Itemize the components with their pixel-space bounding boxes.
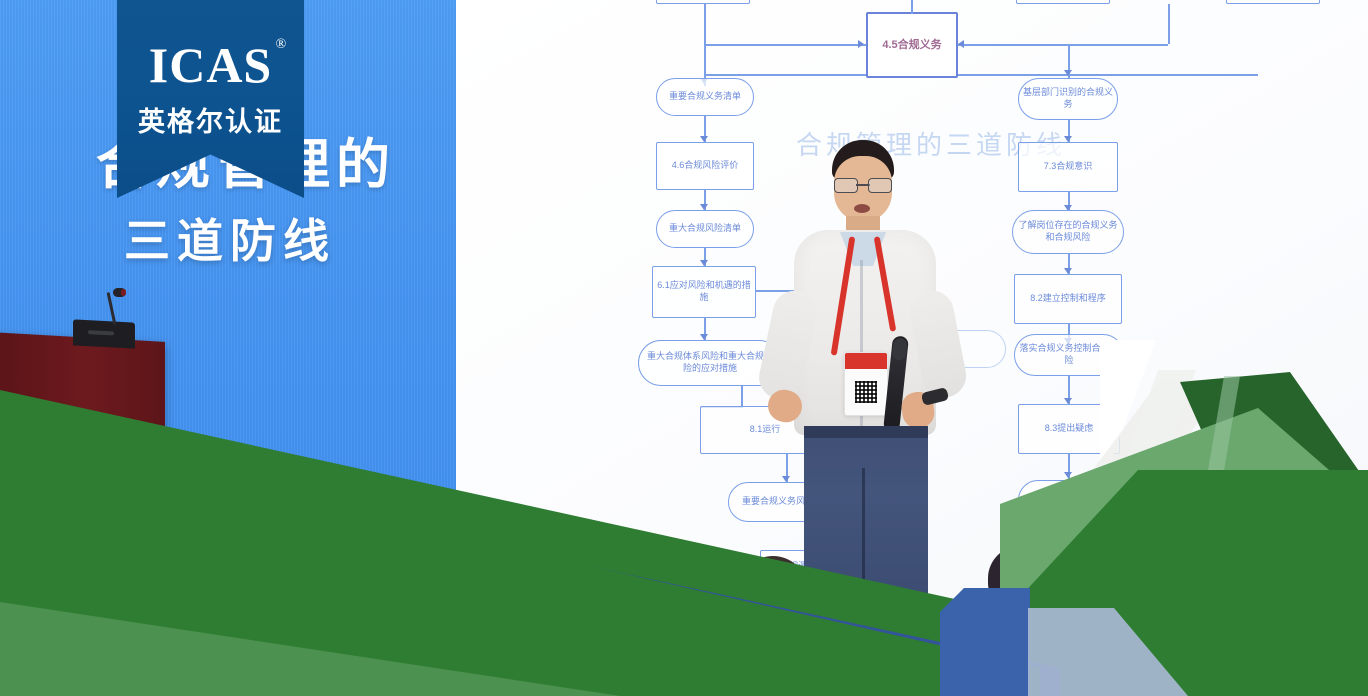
audience-head bbox=[620, 540, 694, 610]
flow-edge-right-riser bbox=[1168, 4, 1170, 44]
flow-arrow-r-trunk bbox=[1064, 70, 1072, 76]
flow-node-suspected-noncompliance: 疑似不合规 bbox=[1018, 480, 1124, 520]
lectern-microphone-head-icon bbox=[113, 288, 126, 297]
flow-node-key-obligation-list: 重要合规义务清单 bbox=[656, 78, 754, 116]
flow-edge-hero-branch-right bbox=[958, 74, 1258, 76]
flow-node-establish-controls: 8.2建立控制和程序 bbox=[1014, 274, 1122, 324]
screenshot-stage: 合规管理的 三道防线 ICAS ® 英格尔认证 4.5合规义务 bbox=[0, 0, 1368, 696]
audience-head bbox=[988, 545, 1058, 611]
flow-edge-hero-branch-left bbox=[704, 74, 866, 76]
flow-edge-hero-in-top bbox=[911, 0, 913, 14]
flow-node-raise-concern: 8.3提出疑虑 bbox=[1018, 404, 1120, 454]
presenter-belt bbox=[804, 426, 928, 438]
audience-head bbox=[740, 556, 806, 618]
icas-wordmark-text: ICAS bbox=[149, 37, 272, 93]
flow-edge-hero-left bbox=[704, 44, 866, 46]
audience-head bbox=[1105, 588, 1169, 646]
flow-node-compliance-awareness: 7.3合规意识 bbox=[1018, 142, 1118, 192]
flow-node-compliance-obligation: 4.5合规义务 bbox=[866, 12, 958, 78]
icas-chinese-name: 英格尔认证 bbox=[117, 100, 304, 139]
flow-node-top-far-right bbox=[1226, 0, 1320, 4]
presenter-name-badge bbox=[844, 352, 888, 416]
flow-node-risk-evaluation: 4.6合规风险评价 bbox=[656, 142, 754, 190]
flow-node-top-right bbox=[1016, 0, 1110, 4]
flow-node-top-left bbox=[656, 0, 750, 4]
flow-arrow-r6 bbox=[1064, 472, 1072, 478]
lectern-device bbox=[73, 319, 135, 348]
flow-node-dept-identified-obligation: 基层部门识别的合规义务 bbox=[1018, 78, 1118, 120]
flow-node-know-post-obligations: 了解岗位存在的合规义务和合规风险 bbox=[1012, 210, 1124, 254]
flow-edge-hero-right bbox=[958, 44, 1168, 46]
presenter-glasses-icon bbox=[834, 178, 892, 191]
presenter-mouth bbox=[854, 204, 870, 213]
lectern-body bbox=[0, 332, 165, 452]
flow-arrow-into-hero-right bbox=[958, 40, 964, 48]
flow-node-implement-obligations: 落实合规义务控制合规风险 bbox=[1014, 334, 1124, 376]
flow-node-major-risk-list: 重大合规风险清单 bbox=[656, 210, 754, 248]
flow-node-risk-opportunity-measures: 6.1应对风险和机遇的措施 bbox=[652, 266, 756, 318]
banner-title-line2: 三道防线 bbox=[124, 205, 336, 271]
presenter-trousers bbox=[804, 426, 928, 622]
icas-wordmark: ICAS ® bbox=[149, 40, 272, 90]
flow-edge-left-riser bbox=[704, 4, 706, 44]
registered-mark-icon: ® bbox=[276, 38, 288, 52]
flow-edge-l5 bbox=[741, 386, 743, 408]
flow-arrow-r7 bbox=[1064, 542, 1072, 548]
presenter-figure bbox=[760, 140, 990, 620]
flow-arrow-into-hero-left bbox=[858, 40, 864, 48]
